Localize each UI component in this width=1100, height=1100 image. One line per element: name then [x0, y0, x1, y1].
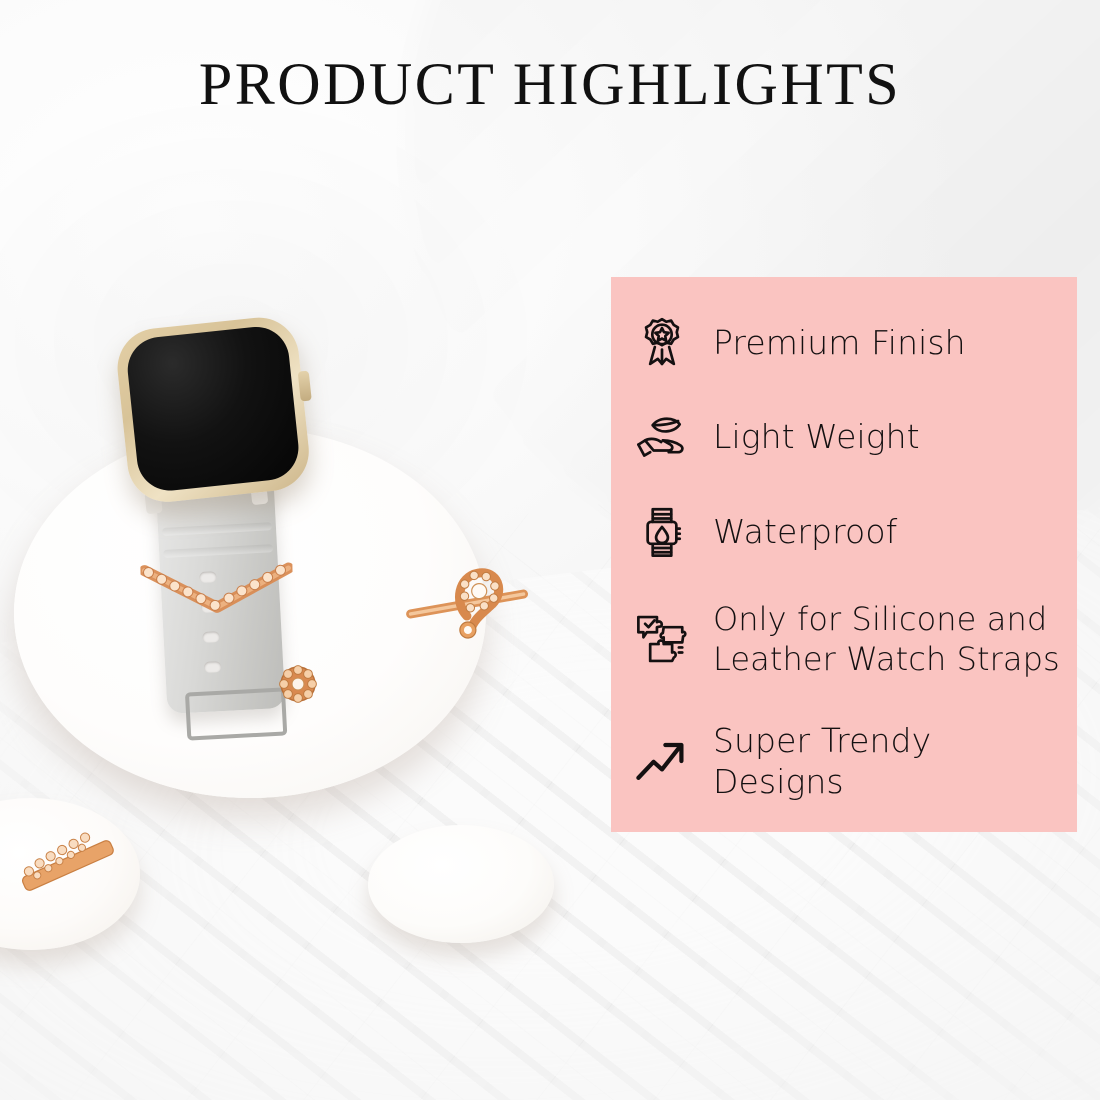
- puzzle-check-icon: [635, 612, 689, 666]
- product-highlights-graphic: PRODUCT HIGHLIGHTS: [0, 0, 1100, 1100]
- highlight-label: Premium Finish: [713, 322, 966, 363]
- hand-holding-leaf-icon: [635, 410, 689, 464]
- highlight-label: Light Weight: [713, 416, 920, 457]
- round-rhinestone-charm: [278, 664, 318, 704]
- award-badge-icon: [635, 315, 689, 369]
- highlight-label-line-1: Only for Silicone and: [713, 600, 1047, 638]
- watch-crown: [298, 371, 312, 402]
- highlights-panel: Premium Finish Light Weight: [611, 277, 1077, 832]
- highlight-item-trendy-designs: Super Trendy Designs: [611, 720, 1077, 802]
- waterproof-watch-icon: [635, 505, 689, 559]
- loop-rhinestone-charm: [401, 558, 532, 649]
- small-round-riser: [368, 825, 554, 943]
- highlight-item-light-weight: Light Weight: [611, 410, 1077, 464]
- highlight-item-strap-compatibility: Only for Silicone and Leather Watch Stra…: [611, 599, 1077, 679]
- page-title: PRODUCT HIGHLIGHTS: [0, 48, 1100, 120]
- highlight-label-line-2: Leather Watch Straps: [713, 640, 1060, 678]
- watch-buckle: [185, 687, 287, 740]
- v-shape-rhinestone-charm: [140, 558, 293, 617]
- watch-case: [114, 314, 313, 506]
- highlight-label: Waterproof: [713, 511, 897, 552]
- trending-up-arrow-icon: [635, 734, 689, 788]
- watch-screen: [124, 324, 301, 494]
- highlight-item-waterproof: Waterproof: [611, 505, 1077, 559]
- highlight-label: Super Trendy Designs: [713, 720, 1071, 802]
- highlight-item-premium-finish: Premium Finish: [611, 315, 1077, 369]
- highlight-label: Only for Silicone and Leather Watch Stra…: [713, 599, 1060, 679]
- product-photo: [0, 270, 600, 970]
